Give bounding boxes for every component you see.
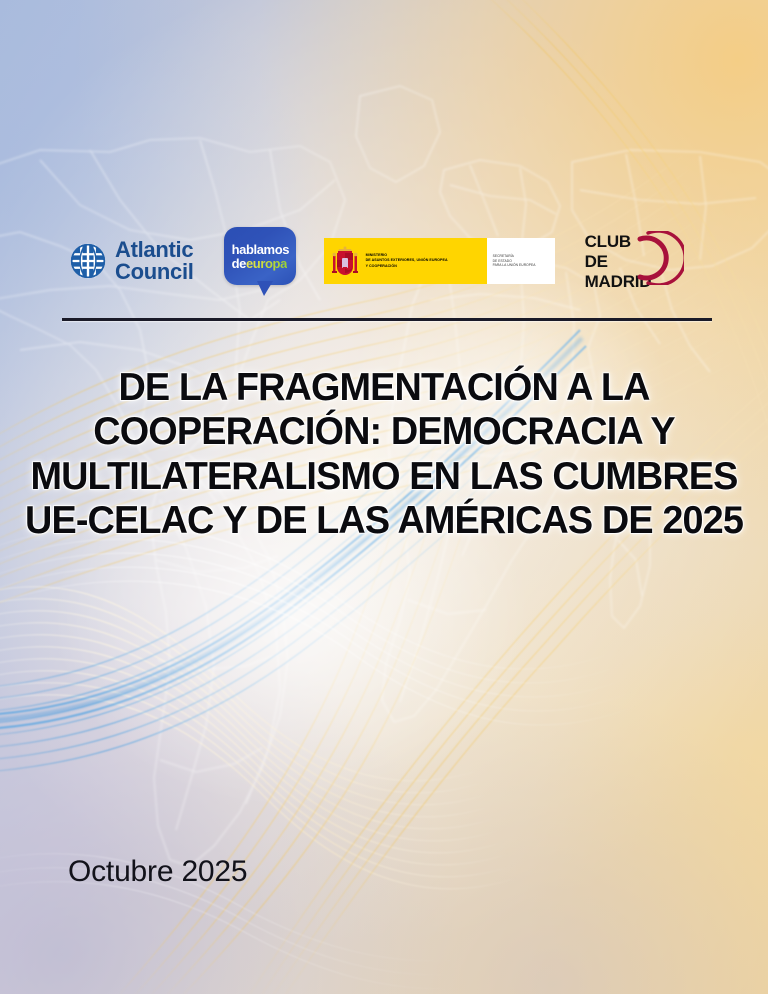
atlantic-council-line2: Council [115,261,194,283]
logo-row: Atlantic Council hablamos deeuropa [62,216,712,306]
title-line-4: UE-CELAC Y DE LAS AMÉRICAS DE 2025 [19,499,748,543]
hde-line2-de: de [232,256,246,271]
ministerio-text: MINISTERIO DE ASUNTOS EXTERIORES, UNIÓN … [366,253,448,268]
logo-atlantic-council: Atlantic Council [70,239,194,283]
page-title: DE LA FRAGMENTACIÓN A LA COOPERACIÓN: DE… [12,366,757,543]
title-line-2: COOPERACIÓN: DEMOCRACIA Y [19,410,748,454]
hde-line2-europa: europa [246,256,287,271]
secretaria-white-block: SECRETARÍA DE ESTADO PARA LA UNIÓN EUROP… [487,238,555,284]
logo-hablamos-de-europa: hablamos deeuropa [224,224,296,298]
atlantic-council-line1: Atlantic [115,239,194,261]
logo-ministerio: MINISTERIO DE ASUNTOS EXTERIORES, UNIÓN … [324,238,555,284]
logo-club-de-madrid: CLUB DE MADRID [585,228,685,294]
arc-waves-icon [634,231,684,285]
ministerio-yellow-block: MINISTERIO DE ASUNTOS EXTERIORES, UNIÓN … [324,238,487,284]
title-line-1: DE LA FRAGMENTACIÓN A LA [19,366,748,410]
secretaria-text: SECRETARÍA DE ESTADO PARA LA UNIÓN EUROP… [493,254,536,268]
ministerio-line3: Y COOPERACIÓN [366,264,448,269]
publication-date: Octubre 2025 [68,855,247,889]
ministerio-line2: DE ASUNTOS EXTERIORES, UNIÓN EUROPEA [366,258,448,263]
header-divider [62,318,712,321]
hde-line1: hablamos [232,243,296,256]
atlantic-council-wordmark: Atlantic Council [115,239,194,283]
globe-icon [70,243,106,279]
secretaria-line3: PARA LA UNIÓN EUROPEA [493,263,536,268]
report-cover-page: Atlantic Council hablamos deeuropa [0,0,768,994]
title-line-3: MULTILATERALISMO EN LAS CUMBRES [19,455,748,499]
spain-coat-of-arms-icon [330,245,360,277]
